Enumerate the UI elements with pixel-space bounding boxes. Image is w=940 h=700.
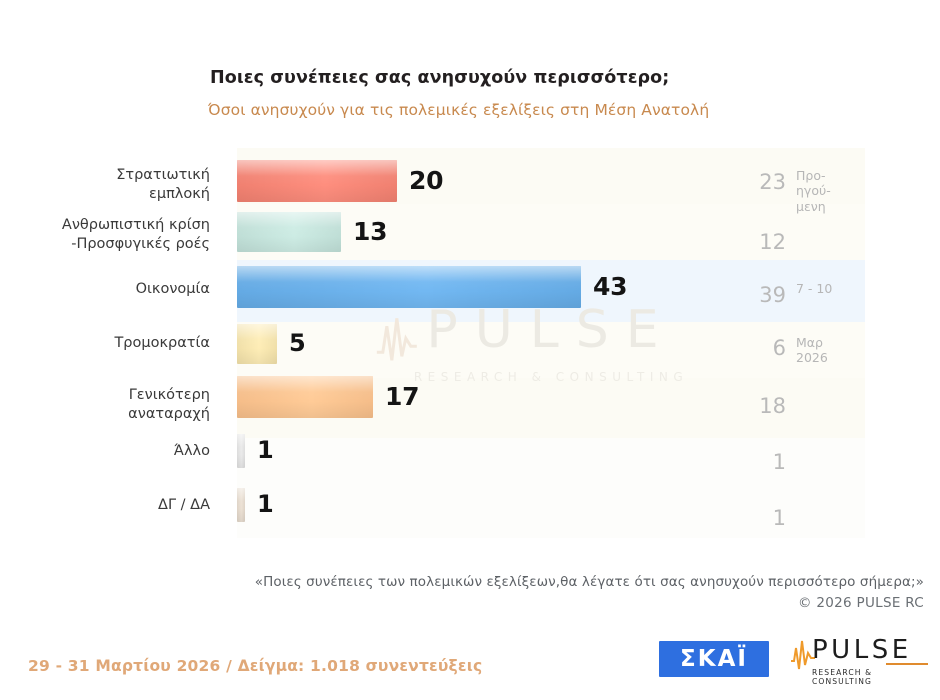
fieldwork-info: 29 - 31 Μαρτίου 2026 / Δείγμα: 1.018 συν… (28, 657, 482, 675)
bar-value-2: 13 (353, 219, 387, 244)
category-label-4: Τρομοκρατία (0, 334, 210, 353)
previous-value-5: 18 (726, 396, 786, 417)
category-label-3: Οικονομία (0, 280, 210, 299)
skai-logo: ΣΚΑΪ (659, 641, 769, 677)
category-label-7: ΔΓ / ΔΑ (0, 496, 210, 515)
previous-value-3: 39 (726, 285, 786, 306)
bar-6 (237, 434, 245, 468)
bar-4 (237, 324, 277, 364)
bar-2 (237, 212, 341, 252)
bar-value-6: 1 (257, 438, 273, 462)
bar-1 (237, 160, 397, 202)
category-label-5: Γενικότερηαναταραχή (0, 386, 210, 423)
previous-value-6: 1 (726, 452, 786, 473)
poll-chart-slide: Ποιες συνέπειες σας ανησυχούν περισσότερ… (0, 0, 940, 700)
category-label-1: Στρατιωτικήεμπλοκή (0, 166, 210, 203)
page-subtitle: Όσοι ανησυχούν για τις πολεμικές εξελίξε… (208, 101, 908, 119)
previous-note-label: Προ- ηγού- μενη (796, 168, 870, 214)
bar-3 (237, 266, 581, 308)
previous-value-1: 23 (726, 172, 786, 193)
skai-logo-text: ΣΚΑΪ (680, 646, 748, 672)
bar-value-4: 5 (289, 331, 305, 355)
page-title: Ποιες συνέπειες σας ανησυχούν περισσότερ… (210, 68, 910, 88)
pulse-logo-rule (886, 663, 928, 665)
previous-value-4: 6 (726, 338, 786, 359)
previous-value-7: 1 (726, 508, 786, 529)
footer-question: «Ποιες συνέπειες των πολεμικών εξελίξεων… (0, 574, 924, 590)
bar-value-7: 1 (257, 492, 273, 516)
previous-value-2: 12 (726, 232, 786, 253)
bar-value-5: 17 (385, 384, 419, 409)
pulse-logo: PULSE RESEARCH & CONSULTING (790, 637, 930, 683)
bar-value-3: 43 (593, 274, 627, 299)
bar-5 (237, 376, 373, 418)
previous-period-month: Μαρ 2026 (796, 335, 870, 366)
category-labels: ΣτρατιωτικήεμπλοκήΑνθρωπιστική κρίση-Προ… (0, 148, 226, 538)
category-label-6: Άλλο (0, 442, 210, 461)
bar-7 (237, 488, 245, 522)
pulse-logo-tagline: RESEARCH & CONSULTING (812, 668, 930, 686)
pulse-logo-text: PULSE (812, 637, 912, 663)
category-label-2: Ανθρωπιστική κρίση-Προσφυγικές ροές (0, 216, 210, 253)
bar-value-1: 20 (409, 168, 443, 193)
footer-copyright: © 2026 PULSE RC (0, 595, 924, 611)
previous-period-range: 7 - 10 (796, 281, 870, 296)
